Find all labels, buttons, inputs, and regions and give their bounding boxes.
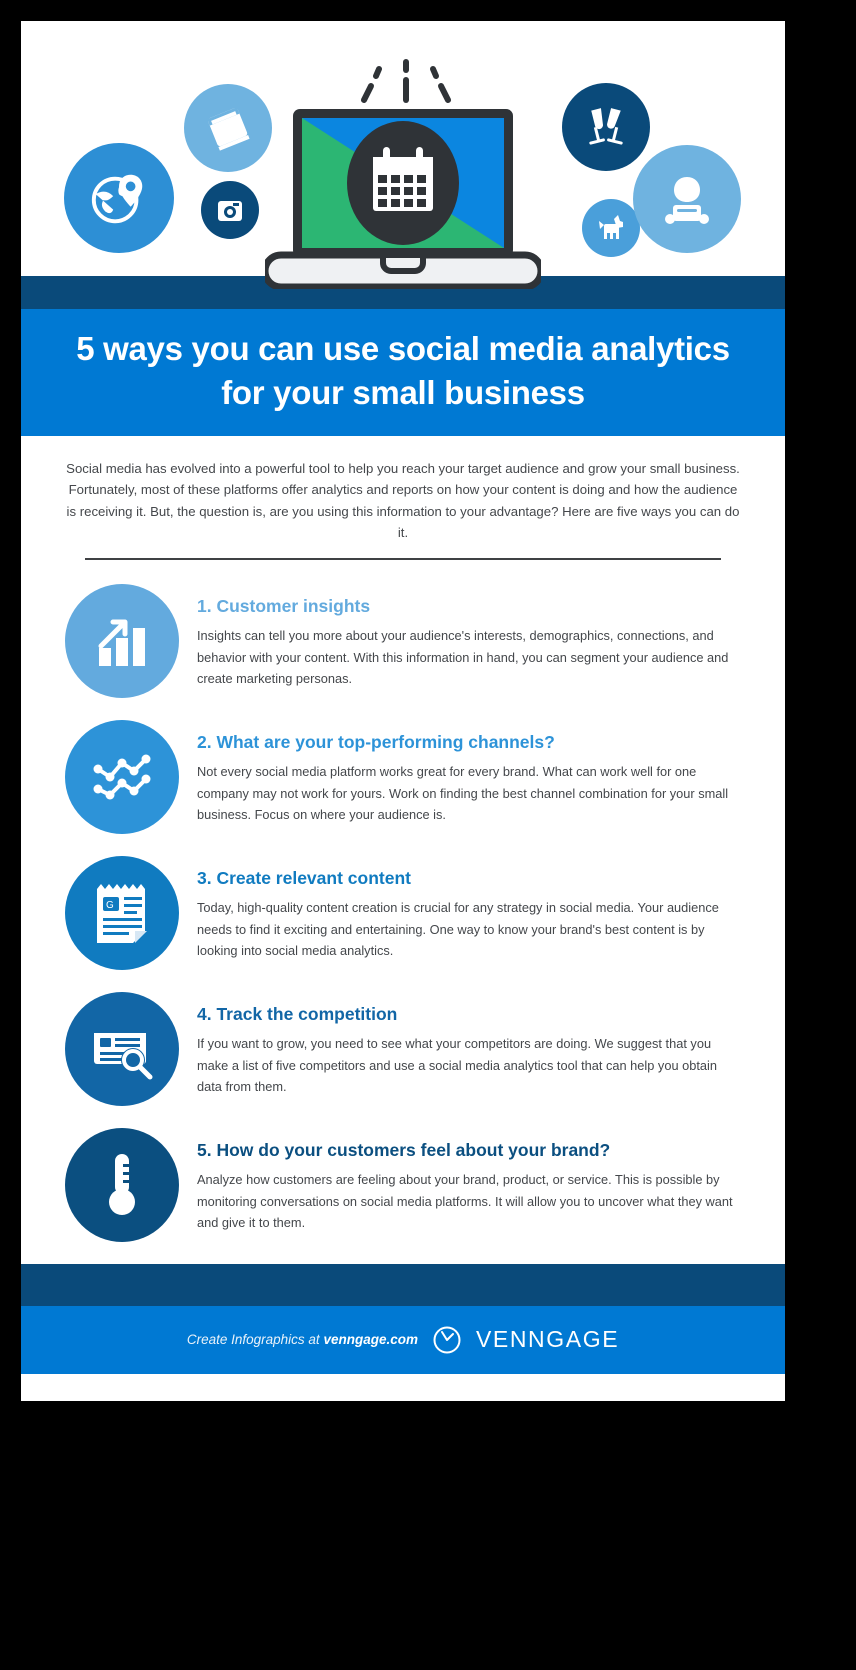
document-content-icon: G [65, 856, 179, 970]
section-title: 1. Customer insights [197, 596, 741, 618]
list-item: 5. How do your customers feel about your… [65, 1128, 741, 1242]
search-document-glyph [90, 1018, 154, 1080]
section-title: 3. Create relevant content [197, 868, 741, 890]
camera-glyph [213, 193, 247, 227]
svg-text:G: G [106, 900, 114, 911]
thermometer-icon [65, 1128, 179, 1242]
footer-tagline-link[interactable]: venngage.com [323, 1332, 418, 1347]
bar-chart-growth-glyph [91, 610, 153, 672]
globe-location-icon [64, 143, 174, 253]
footer-brand-name: VENNGAGE [476, 1326, 619, 1353]
thermometer-glyph [102, 1152, 142, 1218]
dog-icon [582, 199, 640, 257]
document-content-glyph: G [93, 881, 151, 945]
venngage-clock-logo [432, 1325, 462, 1355]
section-title: 5. How do your customers feel about your… [197, 1140, 741, 1162]
section-title: 4. Track the competition [197, 1004, 741, 1026]
title-banner: 5 ways you can use social media analytic… [21, 309, 785, 436]
intro-section: Social media has evolved into a powerful… [21, 436, 785, 560]
section-text: If you want to grow, you need to see wha… [197, 1033, 741, 1097]
bar-chart-growth-icon [65, 584, 179, 698]
book-icon [184, 84, 272, 172]
footer-tagline-prefix: Create Infographics at [187, 1332, 324, 1347]
footer-tagline: Create Infographics at venngage.com [187, 1332, 418, 1347]
intro-paragraph: Social media has evolved into a powerful… [65, 458, 741, 544]
section-text: Insights can tell you more about your au… [197, 625, 741, 689]
section-text: Today, high-quality content creation is … [197, 897, 741, 961]
person-reading-glyph [657, 169, 717, 229]
section-text: Not every social media platform works gr… [197, 761, 741, 825]
section-title: 2. What are your top-performing channels… [197, 732, 741, 754]
globe-location-glyph [88, 167, 150, 229]
line-graph-glyph [90, 745, 154, 809]
page-title: 5 ways you can use social media analytic… [65, 327, 741, 414]
list-item: G 3. Create relevant content Today, high… [65, 856, 741, 970]
section-text: Analyze how customers are feeling about … [197, 1169, 741, 1233]
laptop-icon [265, 109, 541, 289]
list-item: 1. Customer insights Insights can tell y… [65, 584, 741, 698]
camera-icon [201, 181, 259, 239]
tips-list: 1. Customer insights Insights can tell y… [21, 560, 785, 1242]
hero-illustration [21, 21, 785, 276]
dog-glyph [594, 211, 628, 245]
person-reading-icon [633, 145, 741, 253]
sparkle-lines-icon [336, 56, 476, 106]
line-graph-icon [65, 720, 179, 834]
infographic-canvas: 5 ways you can use social media analytic… [21, 21, 785, 1401]
footer-dark-divider [21, 1264, 785, 1306]
cheers-glasses-icon [562, 83, 650, 171]
list-item: 2. What are your top-performing channels… [65, 720, 741, 834]
book-glyph [202, 102, 254, 154]
footer-bar: Create Infographics at venngage.com VENN… [21, 1306, 785, 1374]
search-document-icon [65, 992, 179, 1106]
list-item: 4. Track the competition If you want to … [65, 992, 741, 1106]
cheers-glyph [580, 101, 632, 153]
